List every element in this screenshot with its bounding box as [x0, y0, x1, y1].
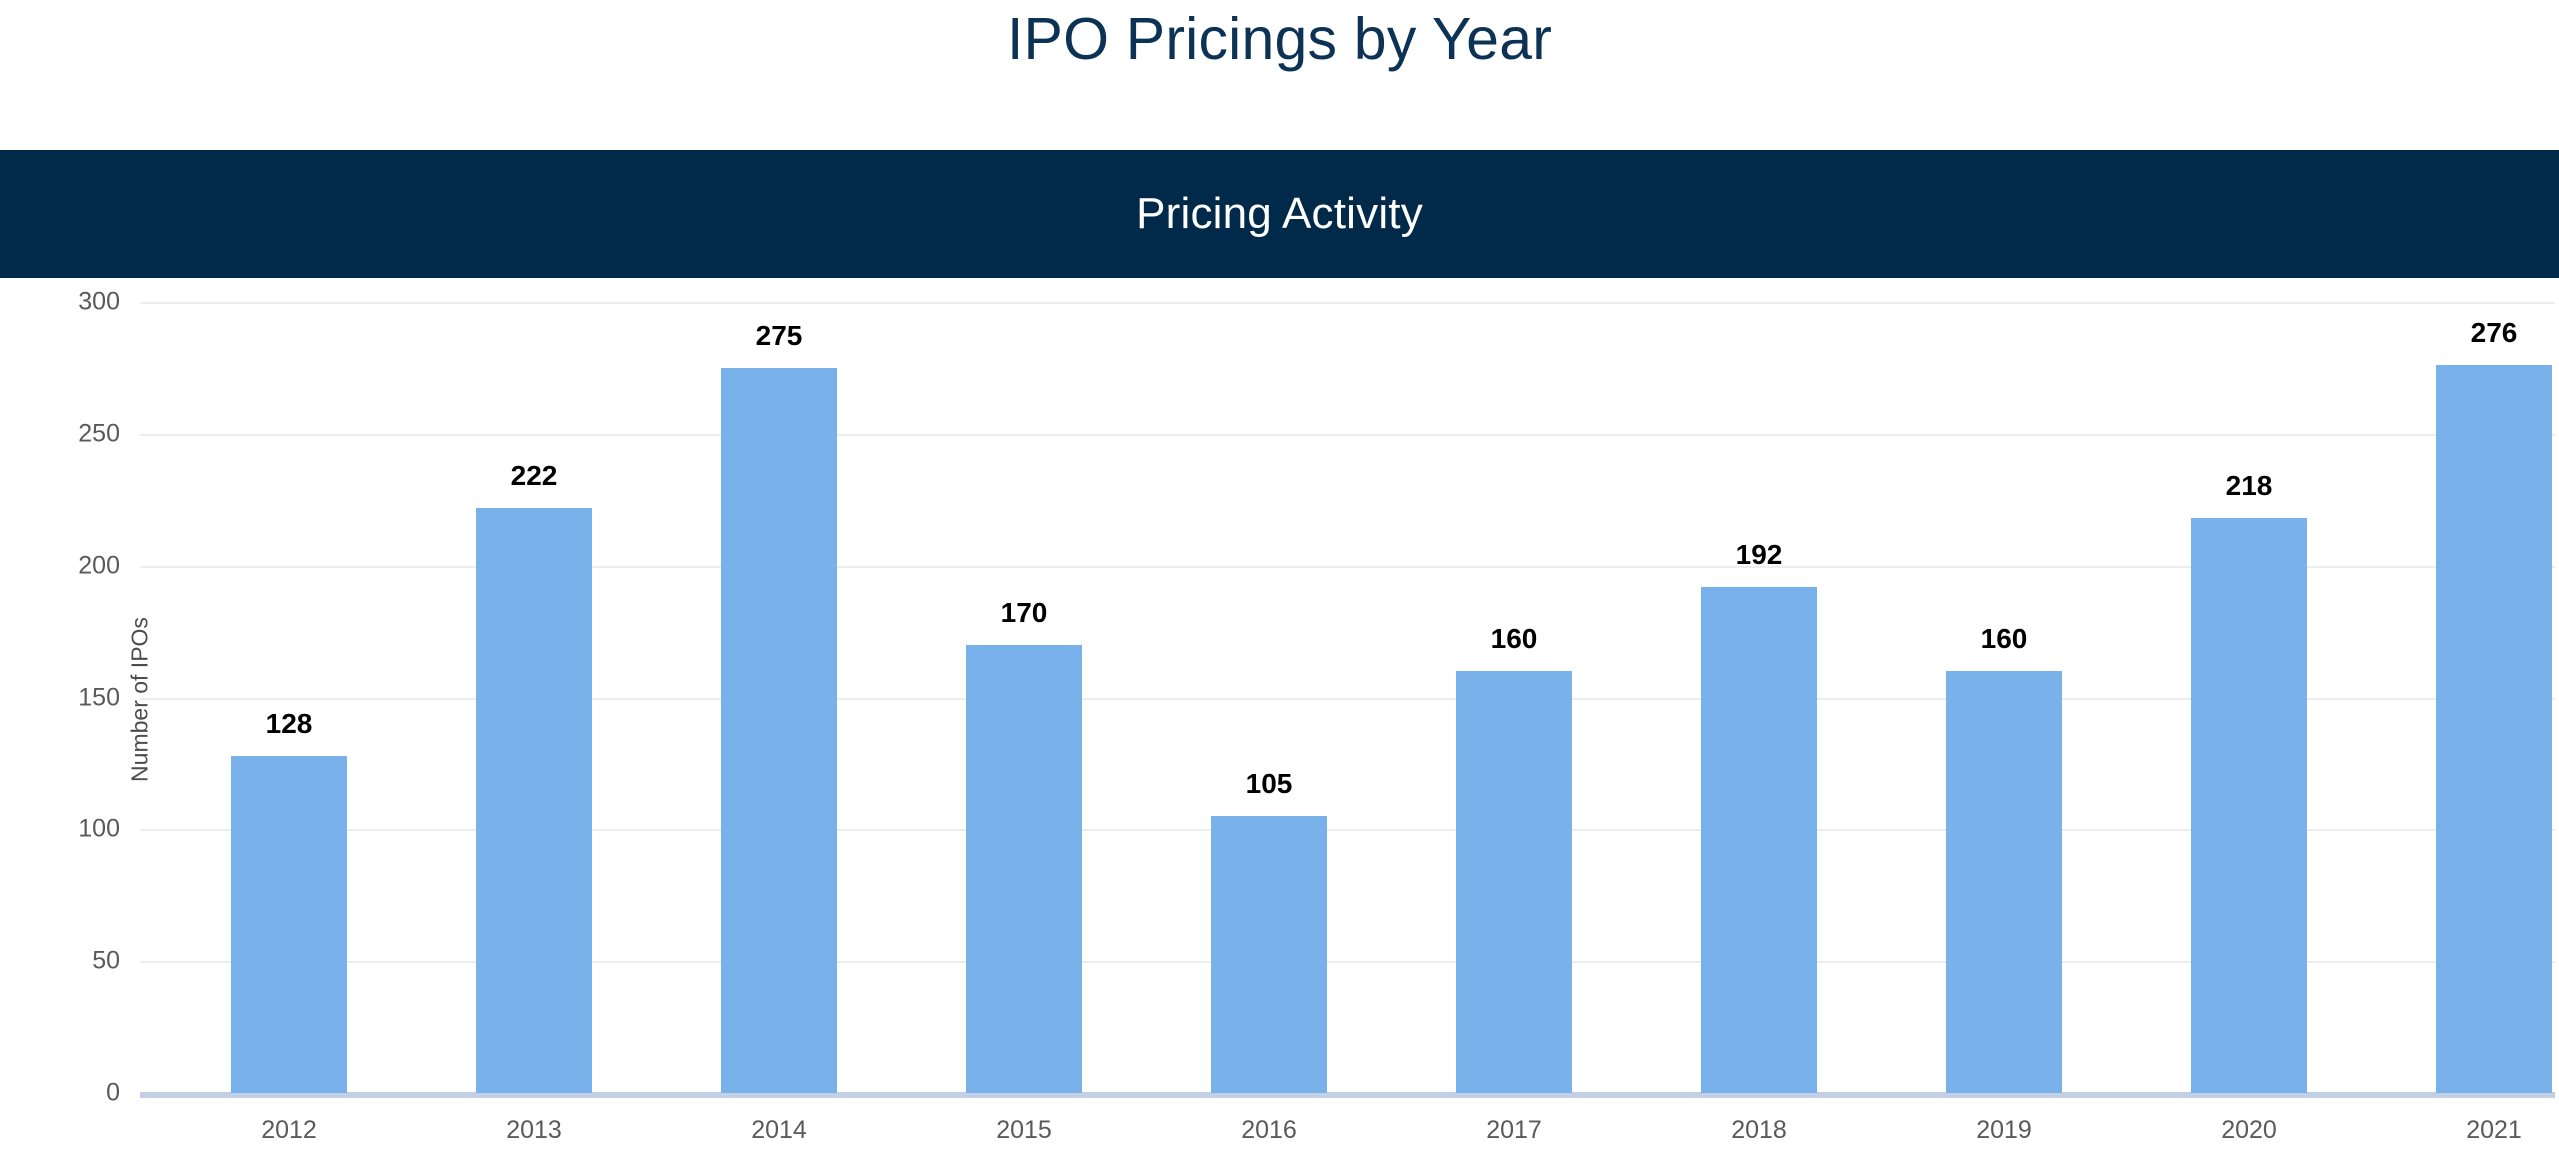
bar-value-label: 222 — [434, 460, 634, 492]
x-axis-tick-label: 2017 — [1414, 1116, 1614, 1145]
bar-value-label: 276 — [2394, 317, 2559, 349]
x-axis-tick-label: 2013 — [434, 1116, 634, 1145]
bar-value-label: 160 — [1414, 623, 1614, 655]
bar-value-label: 275 — [679, 320, 879, 352]
bar-value-label: 128 — [189, 708, 389, 740]
x-axis-tick-label: 2018 — [1659, 1116, 1859, 1145]
plot-area: 1282012222201327520141702015105201616020… — [140, 278, 2555, 1162]
x-axis-tick-label: 2012 — [189, 1116, 389, 1145]
bar-value-label: 160 — [1904, 623, 2104, 655]
bar[interactable] — [721, 368, 837, 1093]
bar[interactable] — [1456, 671, 1572, 1093]
y-axis-tick-label: 100 — [0, 815, 120, 844]
bar[interactable] — [1946, 671, 2062, 1093]
y-axis-tick-label: 200 — [0, 551, 120, 580]
x-axis-tick-label: 2015 — [924, 1116, 1124, 1145]
bar-value-label: 105 — [1169, 768, 1369, 800]
bar[interactable] — [2436, 365, 2552, 1093]
x-axis-tick-label: 2020 — [2149, 1116, 2349, 1145]
bar-value-label: 218 — [2149, 470, 2349, 502]
y-axis-tick-label: 150 — [0, 683, 120, 712]
gridline — [140, 302, 2555, 304]
y-axis-tick-label: 300 — [0, 288, 120, 317]
bar[interactable] — [1701, 587, 1817, 1093]
bar-value-label: 192 — [1659, 539, 1859, 571]
x-axis-tick-label: 2014 — [679, 1116, 879, 1145]
y-axis-tick-label: 50 — [0, 947, 120, 976]
bar[interactable] — [231, 756, 347, 1093]
gridline — [140, 434, 2555, 436]
bar[interactable] — [476, 508, 592, 1093]
bar-value-label: 170 — [924, 597, 1124, 629]
x-axis-tick-label: 2019 — [1904, 1116, 2104, 1145]
bar[interactable] — [966, 645, 1082, 1093]
page-title: IPO Pricings by Year — [0, 0, 2559, 150]
bar[interactable] — [1211, 816, 1327, 1093]
y-axis-tick-label: 0 — [0, 1079, 120, 1108]
page-title-text: IPO Pricings by Year — [1007, 0, 1552, 78]
section-banner: Pricing Activity — [0, 150, 2559, 278]
x-axis-tick-label: 2021 — [2394, 1116, 2559, 1145]
bar-chart: Number of IPOs 050100150200250300 128201… — [0, 278, 2559, 1162]
section-banner-label: Pricing Activity — [1136, 189, 1423, 239]
y-axis-tick-label: 250 — [0, 419, 120, 448]
bar[interactable] — [2191, 518, 2307, 1093]
x-axis-tick-label: 2016 — [1169, 1116, 1369, 1145]
